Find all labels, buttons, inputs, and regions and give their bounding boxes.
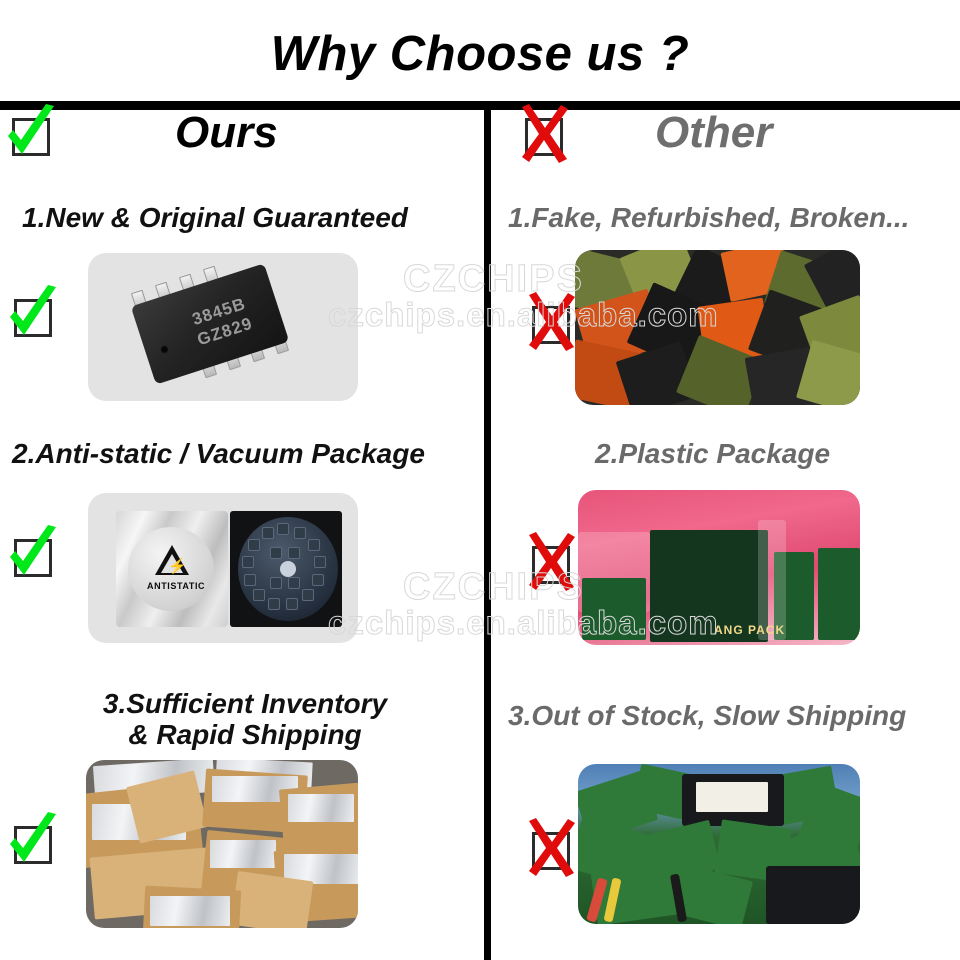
- pink-plastic-bag-photo: ANG PACK: [578, 490, 860, 645]
- reel-pocket: [253, 589, 265, 601]
- reel-pocket: [302, 589, 314, 601]
- ours-item-2-text: 2.Anti-static / Vacuum Package: [12, 438, 482, 469]
- ours-item-1-check-icon: [8, 293, 54, 339]
- other-item-1-text: 1.Fake, Refurbished, Broken...: [508, 202, 958, 233]
- reel-pocket: [288, 547, 300, 559]
- header-divider: [0, 101, 960, 110]
- reel-pocket: [242, 556, 254, 568]
- antistatic-bag-reel-photo: ⚡ ANTISTATIC: [88, 493, 358, 643]
- antistatic-bags: [210, 840, 276, 868]
- ours-item-3-check-icon: [8, 820, 54, 866]
- green-scrap-pile-photo: [578, 764, 860, 924]
- column-header-ours: Ours: [175, 108, 278, 158]
- black-module: [766, 866, 860, 924]
- antistatic-bags: [150, 896, 230, 926]
- reel-pocket: [288, 577, 300, 589]
- reel-pocket: [270, 547, 282, 559]
- antistatic-bag: ⚡ ANTISTATIC: [116, 511, 228, 627]
- column-header-other: Other: [655, 108, 772, 158]
- other-header-cross-icon: [519, 112, 565, 158]
- antistatic-bags: [288, 794, 354, 822]
- lightning-bolt-icon: ⚡: [168, 559, 187, 574]
- box-flap: [231, 871, 314, 928]
- cross-glyph: [515, 104, 573, 164]
- pcb-board: [582, 578, 646, 640]
- component-tray: [230, 511, 342, 627]
- other-item-3-text: 3.Out of Stock, Slow Shipping: [508, 700, 958, 731]
- reel-hub: [280, 561, 296, 577]
- new-original-chip-photo: 3845B GZ829: [88, 253, 358, 401]
- check-glyph: [4, 285, 62, 345]
- reel-pocket: [314, 556, 326, 568]
- other-item-2-text: 2.Plastic Package: [595, 438, 955, 469]
- ours-item-1-text: 1.New & Original Guaranteed: [22, 202, 472, 233]
- reel-pocket: [312, 574, 324, 586]
- cross-glyph: [522, 292, 580, 352]
- reel-pocket: [262, 527, 274, 539]
- reel-pocket: [308, 539, 320, 551]
- stock-boxes-photo: [86, 760, 358, 928]
- check-glyph: [2, 104, 60, 164]
- column-divider: [484, 110, 491, 960]
- other-item-3-cross-icon: [526, 826, 572, 872]
- ours-header-check-icon: [6, 112, 52, 158]
- chip-pin1-dot: [160, 345, 169, 354]
- ours-item-3-text: 3.Sufficient Inventory & Rapid Shipping: [30, 688, 460, 751]
- reel-pocket: [268, 598, 280, 610]
- reel-pocket: [286, 598, 298, 610]
- page-title: Why Choose us ?: [0, 26, 960, 82]
- check-glyph: [4, 525, 62, 585]
- other-item-1-cross-icon: [526, 300, 572, 346]
- reel-pocket: [294, 527, 306, 539]
- reel-pocket: [244, 574, 256, 586]
- antistatic-label: ANTISTATIC: [147, 581, 205, 591]
- cross-glyph: [522, 818, 580, 878]
- scrap-chips-pile-photo: [575, 250, 860, 405]
- pack-label: ANG PACK: [714, 623, 785, 637]
- other-item-2-cross-icon: [526, 540, 572, 586]
- cross-glyph: [522, 532, 580, 592]
- pcb-board: [818, 548, 860, 640]
- why-choose-us-infographic: Why Choose us ? Ours Other 1.New & Origi…: [0, 0, 960, 960]
- plastic-film: [758, 520, 786, 640]
- check-glyph: [4, 812, 62, 872]
- reel-pocket: [277, 523, 289, 535]
- reel-pocket: [270, 577, 282, 589]
- module-label: [696, 782, 768, 812]
- reel-pocket: [248, 539, 260, 551]
- ours-item-2-check-icon: [8, 533, 54, 579]
